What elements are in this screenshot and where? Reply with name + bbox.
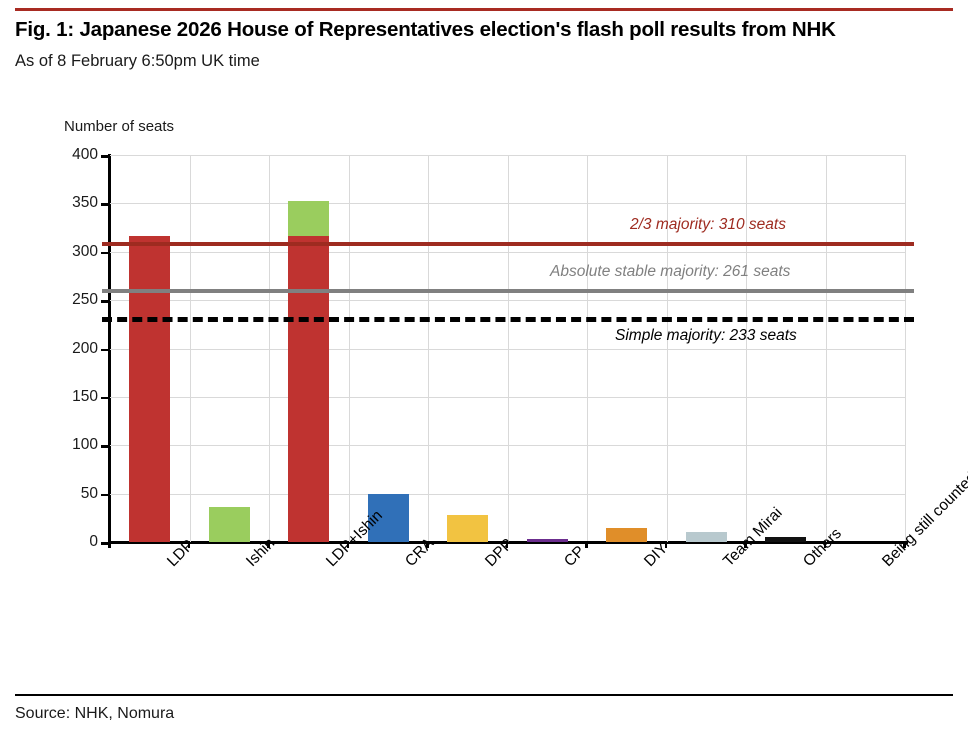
x-tick-mark <box>506 541 509 548</box>
reference-line-label: Simple majority: 233 seats <box>615 327 797 345</box>
x-tick-mark <box>744 541 747 548</box>
gridline <box>428 155 429 542</box>
y-tick-mark <box>101 445 109 448</box>
y-tick-mark <box>101 155 109 158</box>
x-axis-tick-labels: LDPIshinLDP+IshinCRADPPCPDIYTeam MiraiOt… <box>110 548 910 688</box>
header-rule <box>15 8 953 11</box>
y-tick-mark <box>101 397 109 400</box>
y-tick-mark <box>101 252 109 255</box>
y-tick-mark <box>101 349 109 352</box>
y-tick-mark <box>101 494 109 497</box>
x-tick-mark <box>903 541 906 548</box>
x-tick-label: DIY <box>641 540 672 571</box>
reference-line <box>102 242 914 246</box>
y-tick-mark <box>101 300 109 303</box>
bar[interactable] <box>209 507 250 542</box>
y-tick-mark <box>101 203 109 206</box>
y-tick-label: 150 <box>36 388 98 406</box>
figure-title: Fig. 1: Japanese 2026 House of Represent… <box>15 18 955 42</box>
gridline <box>349 155 350 542</box>
y-tick-label: 250 <box>36 291 98 309</box>
plot-area: 2/3 majority: 310 seatsAbsolute stable m… <box>110 155 905 542</box>
gridline <box>667 155 668 542</box>
x-tick-mark <box>188 541 191 548</box>
reference-line <box>102 289 914 293</box>
x-tick-mark <box>426 541 429 548</box>
bar-segment[interactable] <box>288 201 329 236</box>
gridline <box>746 155 747 542</box>
bar[interactable] <box>765 537 806 542</box>
y-tick-label: 300 <box>36 243 98 261</box>
chart-container: Number of seats 050100150200250300350400… <box>0 100 968 670</box>
gridline <box>269 155 270 542</box>
gridline <box>508 155 509 542</box>
source-note: Source: NHK, Nomura <box>15 705 174 723</box>
x-tick-mark <box>824 541 827 548</box>
figure-subtitle: As of 8 February 6:50pm UK time <box>15 52 260 71</box>
footer-rule <box>15 694 953 696</box>
x-tick-mark <box>665 541 668 548</box>
x-tick-mark <box>585 541 588 548</box>
x-tick-mark <box>347 541 350 548</box>
gridline <box>905 155 906 542</box>
y-tick-label: 350 <box>36 194 98 212</box>
y-tick-label: 400 <box>36 146 98 164</box>
gridline <box>826 155 827 542</box>
bar[interactable] <box>527 539 568 542</box>
bar[interactable] <box>686 532 727 542</box>
gridline <box>587 155 588 542</box>
bar[interactable] <box>606 528 647 542</box>
x-tick-mark <box>267 541 270 548</box>
y-tick-label: 50 <box>36 485 98 503</box>
bar-segment[interactable] <box>288 236 329 542</box>
gridline <box>190 155 191 542</box>
y-axis-tick-labels: 050100150200250300350400 <box>28 100 98 600</box>
bar[interactable] <box>129 236 170 542</box>
reference-line-label: 2/3 majority: 310 seats <box>630 216 786 234</box>
bar[interactable] <box>447 515 488 542</box>
y-tick-label: 200 <box>36 340 98 358</box>
y-tick-label: 0 <box>36 533 98 551</box>
y-tick-label: 100 <box>36 436 98 454</box>
reference-line <box>102 317 914 322</box>
x-tick-mark <box>108 541 111 548</box>
reference-line-label: Absolute stable majority: 261 seats <box>550 263 790 281</box>
